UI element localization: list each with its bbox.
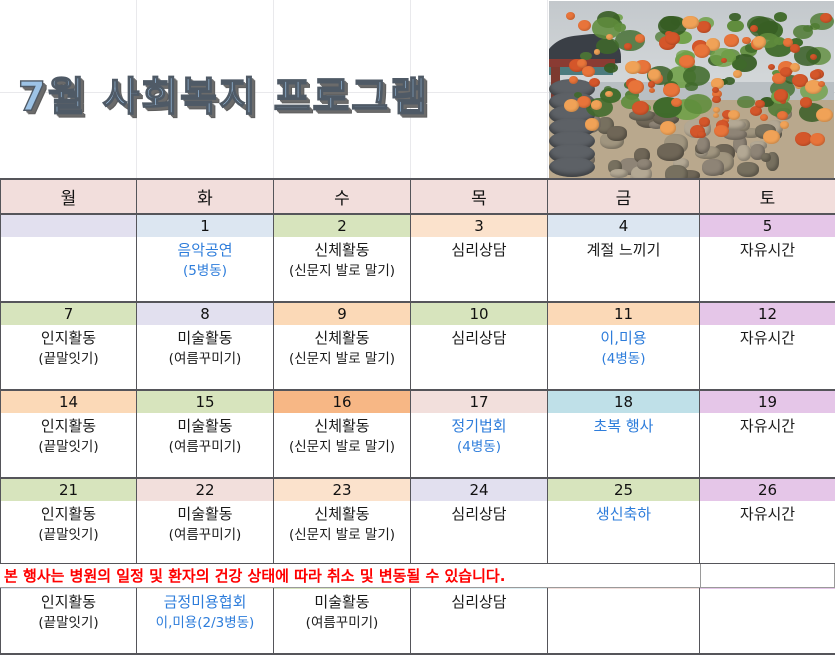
photo-flower [795,132,812,146]
event-subtitle: (4병동) [549,349,698,370]
event-cell[interactable]: 미술활동(여름꾸미기) [137,501,274,566]
day-header-tue: 화 [137,179,274,214]
photo-flower [605,91,613,97]
event-title: 자유시간 [701,239,834,261]
page-title-text: 7월 사회복지 프로그램 [18,62,558,132]
photo-flower [755,100,765,109]
photo-stone [657,143,684,161]
event-cell-empty[interactable] [1,237,137,302]
date-number-cell[interactable]: 2 [274,214,411,237]
photo-flower [790,44,800,52]
event-cell[interactable]: 신체활동(신문지 발로 말기) [274,325,411,390]
photo-stone [665,165,688,178]
date-number-cell[interactable]: 17 [411,390,548,413]
date-number-cell[interactable]: 11 [548,302,700,325]
photo-flower [800,97,812,108]
event-title: 미술활동 [138,327,272,349]
day-header-thu: 목 [411,179,548,214]
event-title: 초복 행사 [549,415,698,437]
disclaimer-text: 본 행사는 병원의 일정 및 환자의 건강 상태에 따라 취소 및 변동될 수 … [4,565,505,588]
photo-flower [733,70,742,78]
date-number-cell[interactable]: 5 [700,214,835,237]
date-number-cell[interactable]: 12 [700,302,835,325]
event-subtitle: (여름꾸미기) [275,613,409,634]
photo-flower [810,54,817,60]
photo-flower [577,59,587,67]
photo-flower [777,111,788,120]
event-cell[interactable]: 신체활동(신문지 발로 말기) [274,501,411,566]
event-title: 자유시간 [701,415,834,437]
event-title: 심리상담 [412,503,546,525]
photo-leaf [793,25,813,39]
date-number-cell[interactable]: 15 [137,390,274,413]
event-cell[interactable]: 신체활동(신문지 발로 말기) [274,413,411,478]
event-title: 심리상담 [412,591,546,613]
photo-flower [624,43,631,49]
event-cell[interactable]: 심리상담 [411,237,548,302]
calendar-event-row: 인지활동(끝말잇기)미술활동(여름꾸미기)신체활동(신문지 발로 말기)정기법회… [1,413,835,478]
disclaimer-bar: 본 행사는 병원의 일정 및 환자의 건강 상태에 따라 취소 및 변동될 수 … [0,563,835,588]
photo-leaf [732,59,747,70]
date-number-cell[interactable]: 21 [1,478,137,501]
event-cell[interactable]: 이,미용(4병동) [548,325,700,390]
calendar-date-row: 212223242526 [1,478,835,501]
photo-flower [648,69,661,80]
event-title: 자유시간 [701,327,834,349]
event-cell[interactable]: 정기법회(4병동) [411,413,548,478]
day-header-fri: 금 [548,179,700,214]
calendar-header-row: 월 화 수 목 금 토 [1,179,835,214]
event-title: 인지활동 [2,591,135,613]
photo-flower [760,114,768,121]
event-subtitle: (끝말잇기) [2,525,135,546]
event-cell[interactable]: 음악공연(5병동) [137,237,274,302]
photo-flower [665,32,680,44]
photo-flower [714,125,729,138]
photo-leaf [604,63,618,73]
photo-flower [697,21,710,32]
calendar-event-row: 인지활동(끝말잇기)미술활동(여름꾸미기)신체활동(신문지 발로 말기)심리상담… [1,325,835,390]
photo-flower [585,118,600,130]
event-cell[interactable]: 심리상담 [411,501,548,566]
event-subtitle: (신문지 발로 말기) [275,349,409,370]
event-cell[interactable]: 생신축하 [548,501,700,566]
date-number-cell[interactable]: 14 [1,390,137,413]
event-title: 심리상담 [412,327,546,349]
date-number-cell[interactable]: 22 [137,478,274,501]
event-title: 미술활동 [275,591,409,613]
photo-stone [607,126,627,140]
date-number-cell-empty[interactable] [1,214,137,237]
event-title: 신체활동 [275,327,409,349]
photo-stone [697,137,710,153]
photo-flower [694,44,710,58]
photo-flower [774,89,788,101]
calendar-event-row: 인지활동(끝말잇기)금정미용협회이,미용(2/3병동)미술활동(여름꾸미기)심리… [1,589,835,654]
event-cell[interactable]: 금정미용협회이,미용(2/3병동) [137,589,274,654]
event-cell[interactable]: 미술활동(여름꾸미기) [137,413,274,478]
event-title: 인지활동 [2,503,135,525]
event-cell-empty[interactable] [700,589,835,654]
event-cell[interactable]: 심리상담 [411,325,548,390]
calendar-date-row: 789101112 [1,302,835,325]
event-subtitle: (신문지 발로 말기) [275,437,409,458]
event-cell[interactable]: 자유시간 [700,501,835,566]
photo-flower [810,133,825,146]
event-subtitle: (5병동) [138,261,272,282]
photo-leaf [724,77,735,85]
event-title: 생신축하 [549,503,698,525]
event-cell[interactable]: 자유시간 [700,325,835,390]
photo-flower [578,20,591,31]
event-cell[interactable]: 인지활동(끝말잇기) [1,413,137,478]
event-title: 미술활동 [138,503,272,525]
event-subtitle: (4병동) [412,437,546,458]
photo-flower [649,88,655,93]
calendar-event-row: 음악공연(5병동)신체활동(신문지 발로 말기)심리상담계절 느끼기자유시간 [1,237,835,302]
date-number-cell[interactable]: 26 [700,478,835,501]
photo-stone [761,153,771,162]
photo-leaf [683,66,710,85]
photo-flower [594,49,600,54]
event-subtitle: (끝말잇기) [2,613,135,634]
event-title: 심리상담 [412,239,546,261]
photo-leaf [684,94,712,114]
event-title: 자유시간 [701,503,834,525]
photo-flower [810,70,821,80]
event-title: 음악공연 [138,239,272,261]
photo-flower [724,34,738,46]
event-cell-empty[interactable] [548,589,700,654]
date-number-cell[interactable]: 9 [274,302,411,325]
event-title: 계절 느끼기 [549,239,698,261]
event-cell[interactable]: 인지활동(끝말잇기) [1,501,137,566]
event-subtitle: (끝말잇기) [2,437,135,458]
event-title: 신체활동 [275,239,409,261]
photo-stone [637,159,652,170]
event-cell[interactable]: 인지활동(끝말잇기) [1,589,137,654]
date-number-cell[interactable]: 23 [274,478,411,501]
event-title: 미술활동 [138,415,272,437]
photo-flower [820,13,832,23]
date-number-cell[interactable]: 18 [548,390,700,413]
date-number-cell[interactable]: 8 [137,302,274,325]
event-cell[interactable]: 자유시간 [700,237,835,302]
photo-flower [648,81,655,87]
photo-stone [610,169,628,178]
photo-flower [780,121,789,129]
page-title: 7월 사회복지 프로그램 [18,62,558,132]
photo-flower [721,58,727,63]
date-number-cell[interactable]: 4 [548,214,700,237]
photo-flower [628,80,644,94]
photo-flower [591,100,602,110]
date-number-cell[interactable]: 16 [274,390,411,413]
event-subtitle: (끝말잇기) [2,349,135,370]
day-header-mon: 월 [1,179,137,214]
photo-flower [589,78,601,88]
event-title: 인지활동 [2,415,135,437]
calendar-date-row: 12345 [1,214,835,237]
photo-roof-tile [549,157,595,177]
date-number-cell[interactable]: 19 [700,390,835,413]
calendar-event-row: 인지활동(끝말잇기)미술활동(여름꾸미기)신체활동(신문지 발로 말기)심리상담… [1,501,835,566]
photo-stone [702,159,723,175]
event-subtitle: (신문지 발로 말기) [275,261,409,282]
photo-leaf [614,23,626,32]
photo-flower [663,83,679,97]
event-subtitle: (여름꾸미기) [138,349,272,370]
event-subtitle: 이,미용(2/3병동) [138,613,272,634]
event-cell[interactable]: 계절 느끼기 [548,237,700,302]
photo-flower [660,121,676,135]
event-cell[interactable]: 초복 행사 [548,413,700,478]
photo-flower [763,130,780,144]
photo-flower [682,16,698,30]
photo-stone [737,162,759,177]
event-cell[interactable]: 신체활동(신문지 발로 말기) [274,237,411,302]
calendar-date-row: 141516171819 [1,390,835,413]
date-number-cell[interactable]: 25 [548,478,700,501]
event-cell[interactable]: 인지활동(끝말잇기) [1,325,137,390]
photo-flower [750,25,758,32]
event-cell[interactable]: 미술활동(여름꾸미기) [137,325,274,390]
event-subtitle: (여름꾸미기) [138,437,272,458]
event-title: 신체활동 [275,415,409,437]
date-number-cell[interactable]: 3 [411,214,548,237]
event-subtitle: (신문지 발로 말기) [275,525,409,546]
event-title: 금정미용협회 [138,591,272,613]
event-title: 인지활동 [2,327,135,349]
date-number-cell[interactable]: 10 [411,302,548,325]
photo-flower [816,108,832,122]
photo-flower [625,61,640,74]
day-header-sat: 토 [700,179,835,214]
event-cell[interactable]: 자유시간 [700,413,835,478]
event-title: 이,미용 [549,327,698,349]
photo-flower [632,101,648,115]
date-number-cell[interactable]: 24 [411,478,548,501]
event-subtitle: (여름꾸미기) [138,525,272,546]
photo-stone [737,145,750,161]
event-title: 정기법회 [412,415,546,437]
date-number-cell[interactable]: 1 [137,214,274,237]
photo-flower [697,131,705,138]
date-number-cell[interactable]: 7 [1,302,137,325]
calendar-body: 12345음악공연(5병동)신체활동(신문지 발로 말기)심리상담계절 느끼기자… [1,214,835,654]
event-title: 신체활동 [275,503,409,525]
header-photo [549,1,834,178]
day-header-wed: 수 [274,179,411,214]
event-cell[interactable]: 미술활동(여름꾸미기) [274,589,411,654]
photo-flower [768,64,775,70]
event-cell[interactable]: 심리상담 [411,589,548,654]
